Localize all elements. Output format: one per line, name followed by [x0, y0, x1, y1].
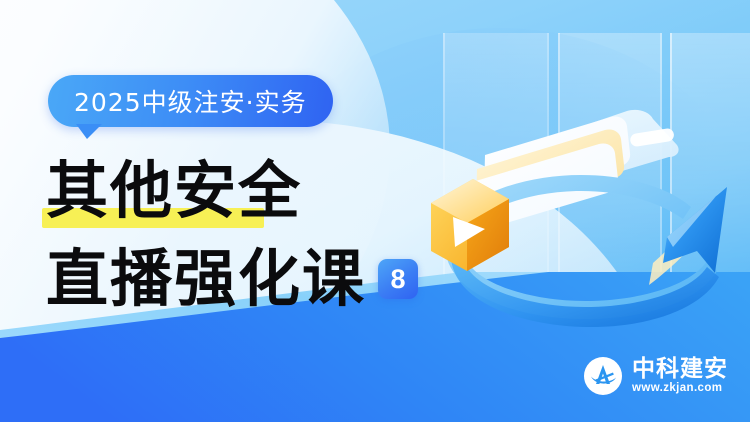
episode-number-label: 8	[391, 266, 406, 293]
brand-name: 中科建安	[632, 358, 728, 381]
course-promo-banner: 2025中级注安·实务 其他安全 直播强化课 8 中科建安 www	[0, 0, 750, 422]
badge-tail-pointer	[76, 124, 102, 139]
headline-line-2: 直播强化课	[46, 248, 366, 310]
episode-number-badge: 8	[378, 259, 418, 299]
headline-line-1: 其他安全	[46, 160, 302, 222]
logo-text-block: 中科建安 www.zkjan.com	[632, 358, 728, 395]
course-category-label: 2025中级注安·实务	[74, 83, 307, 119]
brand-logo: 中科建安 www.zkjan.com	[583, 356, 728, 396]
brand-url: www.zkjan.com	[632, 383, 728, 395]
headline-row-2: 直播强化课 8	[46, 240, 466, 318]
headline-row-1: 其他安全	[46, 152, 466, 230]
headline-block: 其他安全 直播强化课 8	[46, 152, 466, 318]
course-category-badge: 2025中级注安·实务	[48, 75, 333, 127]
text-content: 2025中级注安·实务 其他安全 直播强化课 8	[0, 0, 460, 422]
mountain-swoosh-circle-icon	[583, 356, 623, 396]
